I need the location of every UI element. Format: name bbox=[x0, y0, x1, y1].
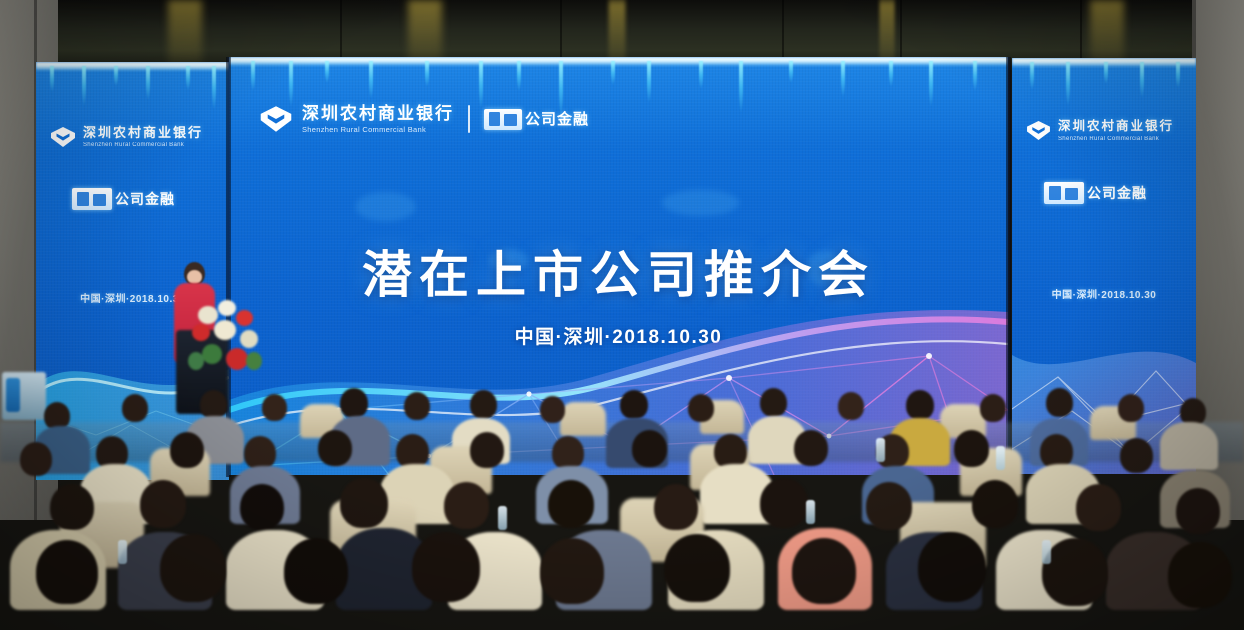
audience-head bbox=[954, 430, 989, 467]
audience-head bbox=[284, 538, 348, 604]
speaker-face bbox=[187, 270, 202, 284]
audience-head bbox=[540, 538, 604, 604]
backdrop-corporate-finance-logo: 公司金融 bbox=[484, 109, 589, 130]
audience-head bbox=[664, 534, 730, 602]
panel-top-glow bbox=[1012, 58, 1196, 67]
brand-divider bbox=[468, 105, 470, 133]
audience-head bbox=[838, 392, 864, 420]
audience-head bbox=[792, 538, 856, 604]
bank-chevron-icon bbox=[50, 126, 76, 148]
side-right-corporate-finance-logo: 公司金融 bbox=[1044, 182, 1147, 204]
audience-head bbox=[1118, 394, 1144, 422]
audience-head bbox=[170, 432, 204, 468]
screen-top-glow bbox=[229, 57, 1008, 66]
water-bottle bbox=[1042, 540, 1051, 564]
corporate-finance-glyph-icon bbox=[484, 109, 522, 130]
water-bottle bbox=[806, 500, 815, 524]
audience-head bbox=[1076, 484, 1121, 531]
audience-head bbox=[404, 392, 430, 420]
audience-head bbox=[36, 540, 98, 604]
audience-head bbox=[50, 484, 94, 530]
backdrop-header-branding: 深圳农村商业银行 Shenzhen Rural Commercial Bank … bbox=[259, 105, 589, 134]
panel-top-glow bbox=[36, 62, 229, 71]
flower-arrangement bbox=[188, 300, 266, 380]
water-bottle bbox=[876, 438, 885, 462]
audience-head bbox=[972, 480, 1018, 528]
audience-head bbox=[632, 430, 667, 467]
audience-head bbox=[552, 436, 584, 470]
conference-photo-scene: 深圳农村商业银行 Shenzhen Rural Commercial Bank … bbox=[0, 0, 1244, 630]
audience-head bbox=[444, 482, 489, 529]
audience-head bbox=[918, 532, 986, 602]
audience-head bbox=[470, 390, 497, 419]
side-left-bank-text: 深圳农村商业银行 Shenzhen Rural Commercial Bank bbox=[83, 126, 203, 148]
audience-head bbox=[654, 484, 698, 530]
audience-head bbox=[122, 394, 148, 422]
audience-head bbox=[866, 482, 912, 530]
audience-head bbox=[540, 396, 565, 423]
corporate-finance-glyph-icon bbox=[1044, 182, 1084, 204]
audience-head bbox=[980, 394, 1006, 422]
audience-head bbox=[200, 390, 227, 419]
corporate-finance-glyph-icon bbox=[72, 188, 112, 210]
audience-head bbox=[20, 442, 52, 476]
audience-head bbox=[906, 390, 934, 420]
side-left-bank-logo: 深圳农村商业银行 Shenzhen Rural Commercial Bank bbox=[50, 126, 203, 148]
audience bbox=[0, 380, 1244, 630]
side-right-bank-text: 深圳农村商业银行 Shenzhen Rural Commercial Bank bbox=[1058, 120, 1174, 142]
water-bottle bbox=[118, 540, 127, 564]
audience-head bbox=[620, 390, 648, 419]
audience-head bbox=[470, 432, 504, 468]
audience-head bbox=[760, 388, 787, 417]
bank-chevron-icon bbox=[259, 105, 293, 133]
audience-head bbox=[548, 480, 594, 528]
audience-head bbox=[318, 430, 352, 466]
audience-head bbox=[688, 394, 714, 422]
side-right-bank-logo: 深圳农村商业银行 Shenzhen Rural Commercial Bank bbox=[1026, 120, 1174, 142]
audience-head bbox=[244, 436, 276, 470]
audience-head bbox=[794, 430, 828, 466]
audience-head bbox=[1176, 488, 1220, 534]
audience-head bbox=[1046, 388, 1073, 417]
audience-head bbox=[340, 388, 368, 418]
audience-head bbox=[340, 478, 388, 528]
audience-head bbox=[140, 480, 186, 528]
side-left-corporate-finance-logo: 公司金融 bbox=[72, 188, 175, 210]
audience-head bbox=[412, 532, 480, 602]
audience-head bbox=[262, 394, 287, 421]
audience-head bbox=[760, 478, 808, 528]
audience-head bbox=[240, 484, 284, 530]
audience-head bbox=[160, 534, 226, 602]
backdrop-bank-text: 深圳农村商业银行 Shenzhen Rural Commercial Bank bbox=[302, 105, 454, 134]
bank-chevron-icon bbox=[1026, 120, 1051, 141]
audience-head bbox=[1042, 538, 1108, 606]
water-bottle bbox=[996, 446, 1005, 470]
audience-head bbox=[1120, 438, 1153, 473]
audience-head bbox=[1168, 542, 1232, 608]
water-bottle bbox=[498, 506, 507, 530]
